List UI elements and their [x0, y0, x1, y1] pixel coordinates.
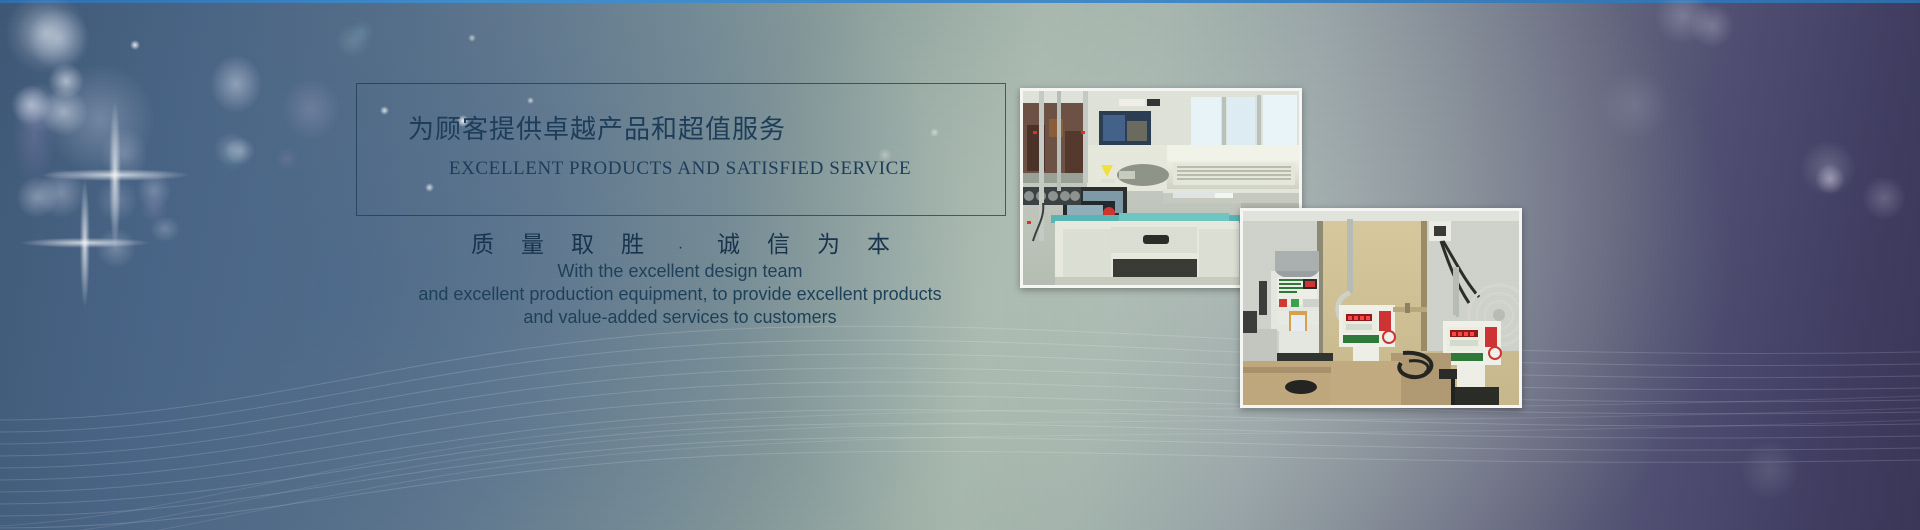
bokeh-circle	[276, 148, 298, 170]
light-flare	[40, 100, 190, 250]
top-accent-rule	[0, 0, 1920, 3]
bokeh-circle	[1600, 70, 1670, 140]
slogan-frame	[356, 83, 1006, 216]
bokeh-circle	[1740, 440, 1800, 500]
body-copy-line: With the excellent design team	[300, 260, 1060, 283]
bokeh-circle	[282, 78, 340, 140]
bokeh-circle	[12, 85, 56, 185]
bokeh-circle	[100, 128, 148, 180]
headline-english: EXCELLENT PRODUCTS AND SATISFIED SERVICE	[390, 158, 970, 180]
bokeh-circle	[150, 216, 180, 242]
bokeh-sparkle	[130, 40, 140, 50]
bokeh-sparkle	[468, 34, 476, 42]
bokeh-circle	[5, 0, 87, 74]
bokeh-circle	[336, 24, 370, 58]
press-machines-photo	[1240, 208, 1522, 408]
bokeh-circle	[1690, 4, 1734, 48]
bokeh-circle	[210, 55, 262, 113]
press-machines-photo-art	[1243, 211, 1519, 405]
bokeh-circle	[40, 88, 88, 136]
bokeh-circle	[214, 132, 248, 166]
motto-char: 诚	[704, 225, 754, 259]
bokeh-circle	[14, 82, 66, 134]
headline-chinese: 为顾客提供卓越产品和超值服务	[408, 109, 1008, 146]
motto-char: 胜	[608, 225, 658, 259]
bokeh-circle	[28, 8, 90, 70]
motto-char: 量	[508, 225, 558, 259]
motto-char: 为	[804, 225, 854, 259]
bokeh-circle	[11, 85, 51, 125]
body-copy-line: and excellent production equipment, to p…	[300, 283, 1060, 306]
bokeh-circle	[137, 172, 171, 210]
bokeh-circle	[140, 196, 168, 222]
motto-separator-dot: ·	[658, 239, 704, 257]
decorative-wave-lines	[0, 300, 1920, 530]
motto-char: 信	[754, 225, 804, 259]
bokeh-circle	[36, 168, 86, 218]
company-motto: 质量取胜·诚信为本	[356, 225, 1006, 259]
bokeh-circle	[1655, 0, 1711, 44]
bokeh-circle	[350, 20, 374, 44]
bokeh-circle	[45, 64, 155, 174]
hero-banner: 为顾客提供卓越产品和超值服务 EXCELLENT PRODUCTS AND SA…	[0, 0, 1920, 530]
motto-char: 本	[854, 225, 904, 259]
bokeh-circle	[1800, 140, 1856, 196]
light-flare	[20, 178, 150, 308]
body-copy-line: and value-added services to customers	[300, 306, 1060, 329]
body-copy: With the excellent design team and excel…	[300, 260, 1060, 329]
bokeh-circle	[1815, 164, 1845, 194]
bokeh-circle	[218, 142, 248, 172]
bokeh-circle	[48, 63, 84, 99]
motto-char: 取	[558, 225, 608, 259]
bokeh-circle	[225, 137, 255, 165]
bokeh-circle	[1862, 176, 1906, 220]
bokeh-circle	[96, 178, 138, 222]
motto-char: 质	[458, 225, 508, 259]
bokeh-circle	[96, 228, 136, 268]
bokeh-circle	[16, 176, 58, 218]
